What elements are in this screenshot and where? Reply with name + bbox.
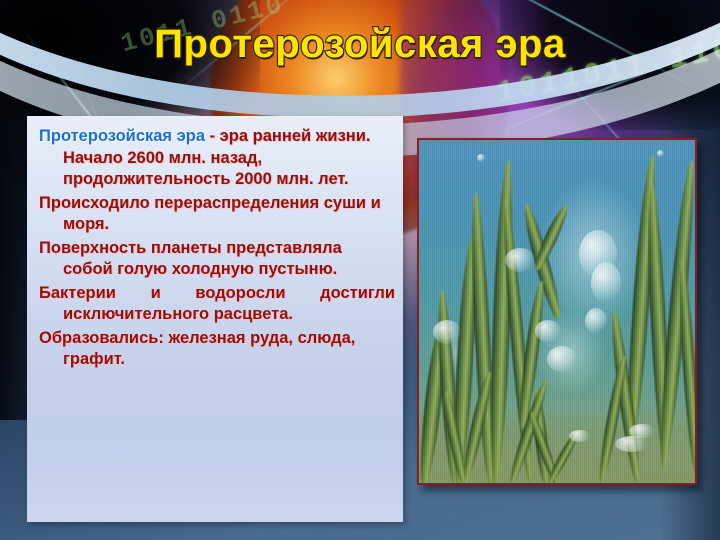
paragraph-text: Образовались: железная руда, слюда, граф… [39, 329, 355, 369]
paragraph-text: Поверхность планеты представляла собой г… [39, 239, 342, 279]
paragraph-text: Бактерии и водоросли достигли исключител… [39, 284, 395, 324]
bullet-paragraph-5: Образовались: железная руда, слюда, граф… [33, 328, 395, 371]
content-text-panel: Протерозойская эра - эра ранней жизни. Н… [27, 116, 403, 522]
bullet-paragraph-1: Протерозойская эра - эра ранней жизни. Н… [33, 126, 395, 191]
highlight-term: Протерозойская эра [39, 127, 205, 145]
bullet-paragraph-3: Поверхность планеты представляла собой г… [33, 238, 395, 281]
image-scanline-texture [419, 140, 695, 483]
slide-title: Протерозойская эра [0, 22, 720, 67]
presentation-slide: 1011 0110 1011011 110110 011101 [0, 0, 720, 540]
bullet-paragraph-4: Бактерии и водоросли достигли исключител… [33, 283, 395, 326]
paragraph-text: Происходило перераспределения суши и мор… [39, 194, 381, 234]
bullet-paragraph-2: Происходило перераспределения суши и мор… [33, 193, 395, 236]
underwater-scene-image [417, 138, 697, 485]
